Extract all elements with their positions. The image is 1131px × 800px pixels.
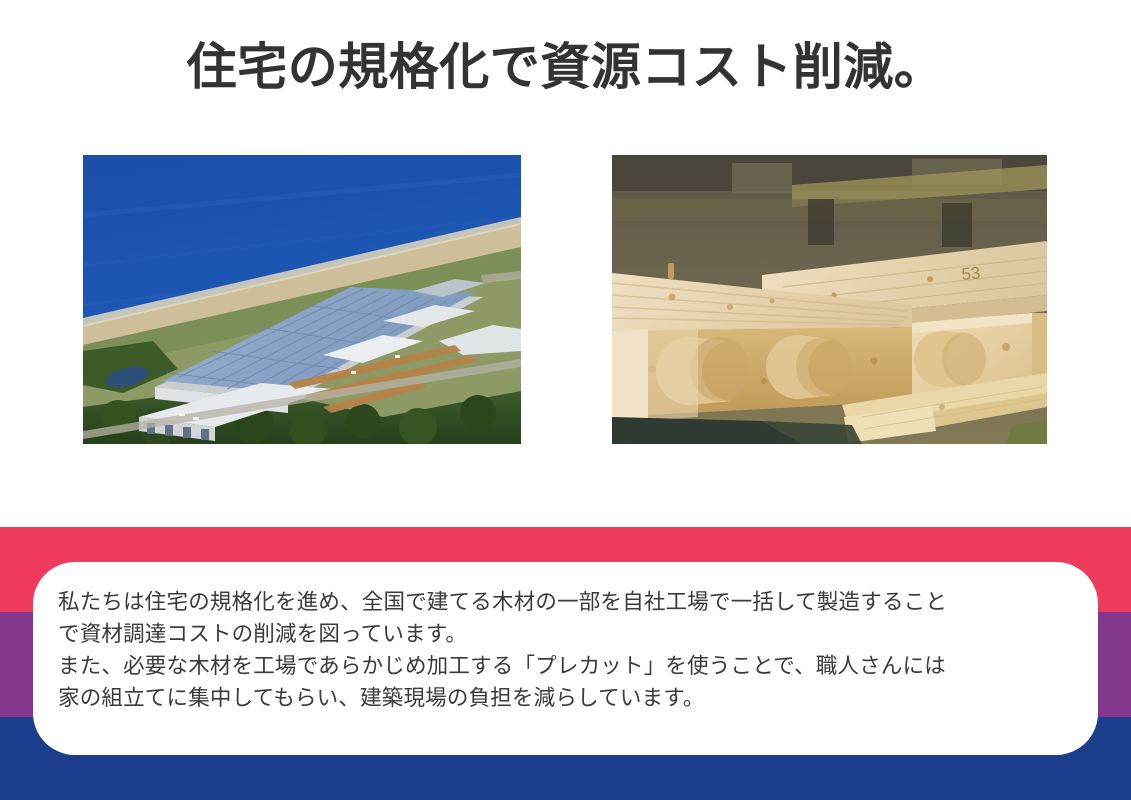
precut-timber-photo: 53 — [612, 155, 1047, 444]
body-card: 私たちは住宅の規格化を進め、全国で建てる木材の一部を自社工場で一括して製造するこ… — [33, 562, 1098, 755]
slide-root: 住宅の規格化で資源コスト削減。 — [0, 0, 1131, 800]
svg-text:53: 53 — [961, 263, 982, 284]
page-title: 住宅の規格化で資源コスト削減。 — [0, 36, 1131, 98]
body-text: 私たちは住宅の規格化を進め、全国で建てる木材の一部を自社工場で一括して製造するこ… — [58, 586, 1068, 714]
aerial-factory-photo — [83, 155, 521, 444]
